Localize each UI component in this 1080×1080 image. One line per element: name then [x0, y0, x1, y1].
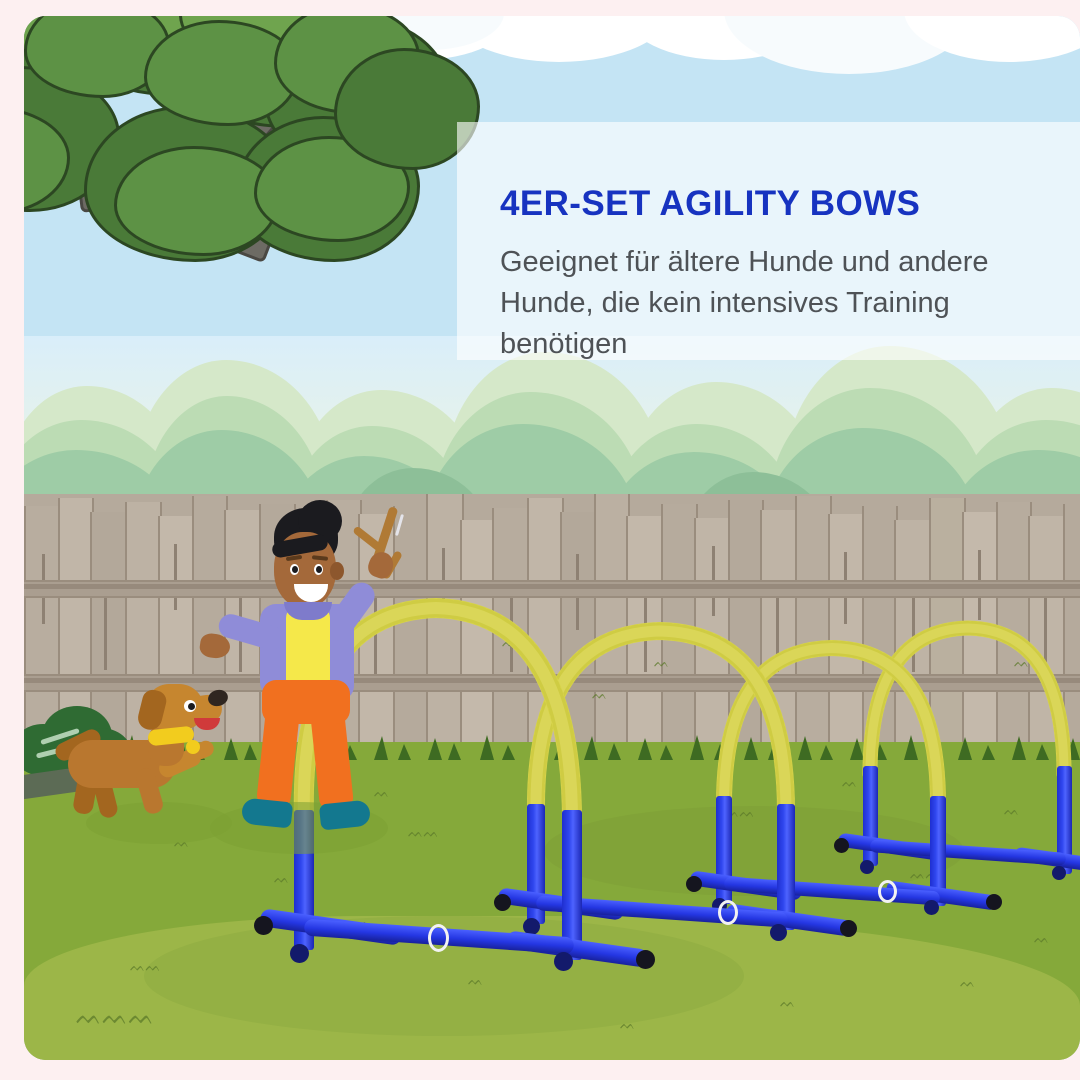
person-hips — [262, 680, 350, 724]
person-eye-left-pupil — [292, 566, 298, 573]
hoop-joint — [554, 952, 573, 971]
hoop-joint — [924, 900, 939, 915]
person-shoe-left — [241, 797, 293, 828]
hoop-connector-ring — [718, 900, 738, 925]
hoop-joint — [770, 924, 787, 941]
hoop-connector-ring — [428, 924, 449, 952]
hoop-joint — [290, 944, 309, 963]
dog-tongue — [194, 718, 220, 730]
dog-collar-tag — [186, 740, 200, 754]
person-hand-raised — [365, 549, 396, 582]
page-subtitle: Geeignet für ältere Hunde und andere Hun… — [500, 242, 1046, 366]
scene-card: ᨓᨓ ᨓᨓᨓ ᨓ ᨓᨓ ᨓ ᨓ ᨓ ᨓᨓ ᨓ ᨓᨓ ᨓ ᨓ ᨓ ᨓ ᨓ ᨓ ᨓ … — [24, 16, 1080, 1060]
hoop-end-cap — [254, 916, 273, 935]
dog-figure — [62, 688, 222, 828]
hoop-end-cap — [986, 894, 1002, 910]
dog-eye-pupil — [188, 703, 195, 710]
motion-line — [395, 514, 404, 536]
person-figure — [202, 508, 422, 838]
illustration-canvas: ᨓᨓ ᨓᨓᨓ ᨓ ᨓᨓ ᨓ ᨓ ᨓ ᨓᨓ ᨓ ᨓᨓ ᨓ ᨓ ᨓ ᨓ ᨓ ᨓ ᨓ … — [0, 0, 1080, 1080]
hoop-connector-ring — [878, 880, 897, 903]
person-ear — [330, 562, 344, 580]
hoop-joint — [1052, 866, 1066, 880]
tree-canopy — [24, 16, 424, 366]
person-eye-right-pupil — [316, 566, 322, 573]
hoop-end-cap — [636, 950, 655, 969]
hoop-end-cap — [840, 920, 857, 937]
person-shoe-right — [319, 799, 371, 830]
page-title: 4ER-SET AGILITY BOWS — [500, 184, 1060, 224]
